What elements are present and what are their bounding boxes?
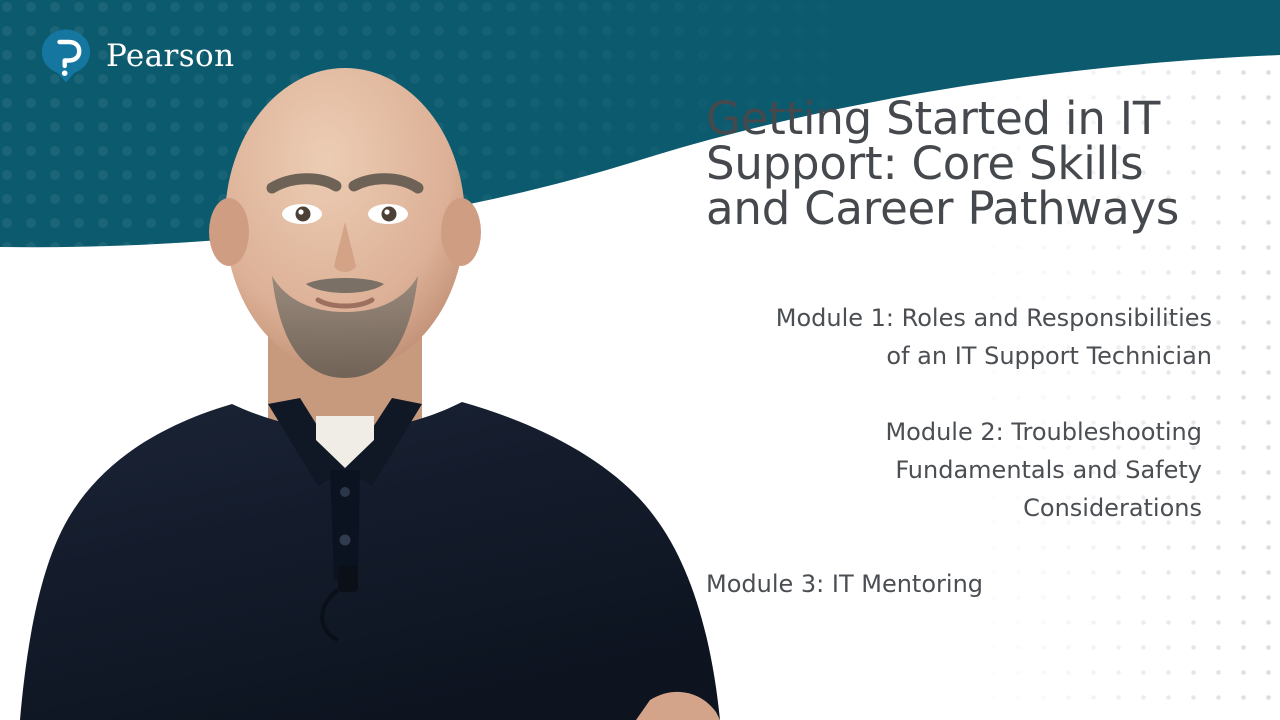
page-title: Getting Started in IT Support: Core Skil… <box>706 96 1226 231</box>
pearson-wordmark: Pearson <box>106 41 234 72</box>
pearson-pin-icon <box>40 28 92 84</box>
module-item-3: Module 3: IT Mentoring <box>706 565 1016 603</box>
course-title-slide: Pearson <box>0 0 1280 720</box>
module-item-1: Module 1: Roles and Responsibilities of … <box>706 299 1212 375</box>
module-list: Module 1: Roles and Responsibilities of … <box>706 299 1226 603</box>
module-item-2: Module 2: Troubleshooting Fundamentals a… <box>706 413 1202 527</box>
slide-content: Getting Started in IT Support: Core Skil… <box>706 96 1226 603</box>
pearson-logo: Pearson <box>40 28 234 84</box>
